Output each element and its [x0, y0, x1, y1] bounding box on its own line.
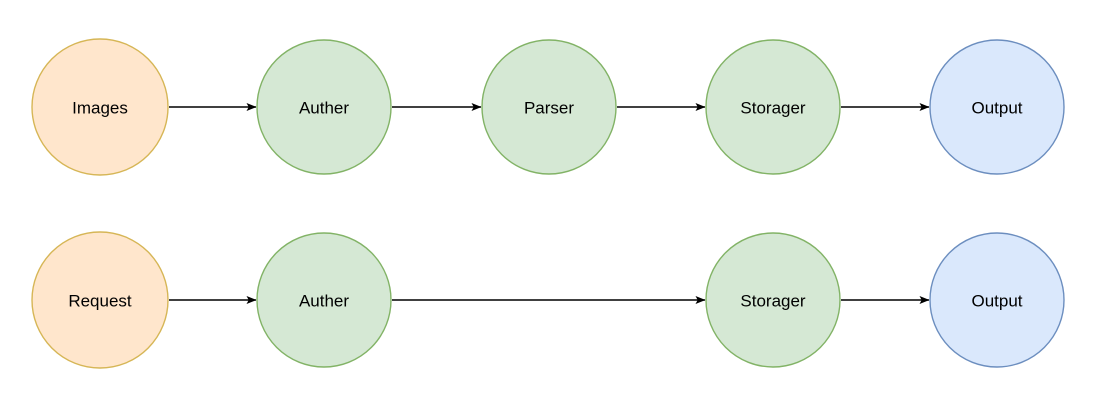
node-circle — [930, 40, 1064, 174]
flow-diagram: ImagesAutherParserStoragerOutputRequestA… — [0, 0, 1110, 401]
node-circle — [930, 233, 1064, 367]
node-auther[interactable]: Auther — [257, 233, 391, 367]
node-request[interactable]: Request — [32, 232, 168, 368]
diagram-canvas: ImagesAutherParserStoragerOutputRequestA… — [0, 0, 1110, 401]
node-output[interactable]: Output — [930, 40, 1064, 174]
node-circle — [706, 233, 840, 367]
node-circle — [257, 40, 391, 174]
node-images[interactable]: Images — [32, 39, 168, 175]
node-auther[interactable]: Auther — [257, 40, 391, 174]
node-circle — [257, 233, 391, 367]
node-circle — [32, 39, 168, 175]
node-circle — [482, 40, 616, 174]
node-circle — [706, 40, 840, 174]
node-storager[interactable]: Storager — [706, 40, 840, 174]
node-parser[interactable]: Parser — [482, 40, 616, 174]
node-circle — [32, 232, 168, 368]
node-storager[interactable]: Storager — [706, 233, 840, 367]
nodes-layer: ImagesAutherParserStoragerOutputRequestA… — [32, 39, 1064, 368]
node-output[interactable]: Output — [930, 233, 1064, 367]
